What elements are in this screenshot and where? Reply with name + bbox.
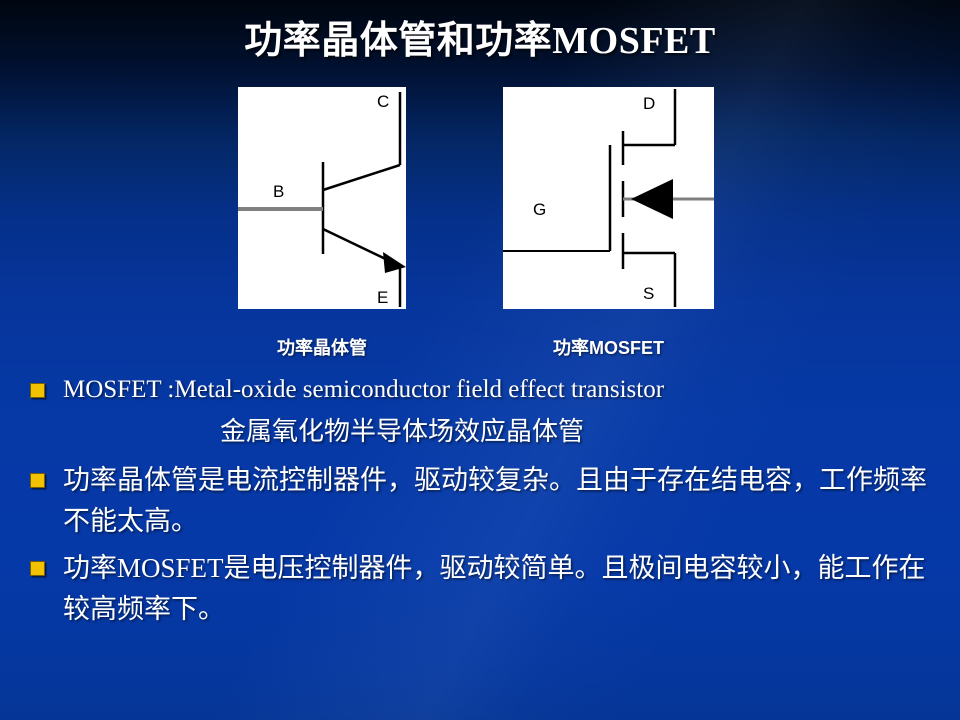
figure-caption-mosfet-cjk: 功率 xyxy=(553,338,589,358)
pin-label-emitter: E xyxy=(377,288,388,307)
pin-label-gate: G xyxy=(533,200,546,219)
page-title: 功率晶体管和功率MOSFET xyxy=(0,18,960,64)
list-item: 功率晶体管是电流控制器件，驱动较复杂。且由于存在结电容，工作频率不能太高。 xyxy=(30,460,930,542)
list-item: 功率MOSFET是电压控制器件，驱动较简单。且极间电容较小，能工作在较高频率下。 xyxy=(30,548,930,630)
bullet-square-icon xyxy=(30,473,45,488)
bullet-text-bjt-characteristics: 功率晶体管是电流控制器件，驱动较复杂。且由于存在结电容，工作频率不能太高。 xyxy=(63,460,930,542)
figure-bjt-symbol: C B E xyxy=(238,87,406,309)
list-item: MOSFET :Metal-oxide semiconductor field … xyxy=(30,370,930,410)
bullet-square-icon xyxy=(30,561,45,576)
bullet-subline-mosfet-chinese: 金属氧化物半导体场效应晶体管 xyxy=(30,412,930,452)
figure-caption-mosfet-latin: MOSFET xyxy=(589,338,664,358)
bullet-text-mosfet-characteristics: 功率MOSFET是电压控制器件，驱动较简单。且极间电容较小，能工作在较高频率下。 xyxy=(63,548,930,630)
pin-label-drain: D xyxy=(643,94,655,113)
figure-caption-bjt: 功率晶体管 xyxy=(238,337,406,359)
pin-label-base: B xyxy=(273,182,284,201)
bullet-text-mosfet-acronym: MOSFET :Metal-oxide semiconductor field … xyxy=(63,370,930,410)
pin-label-collector: C xyxy=(377,92,389,111)
pin-label-source: S xyxy=(643,284,654,303)
figure-caption-mosfet: 功率MOSFET xyxy=(503,337,714,359)
figure-mosfet-symbol: D G S xyxy=(503,87,714,309)
slide-canvas: 功率晶体管和功率MOSFET C B E xyxy=(0,0,960,720)
bullet-square-icon xyxy=(30,383,45,398)
bullet-list: MOSFET :Metal-oxide semiconductor field … xyxy=(30,370,930,636)
